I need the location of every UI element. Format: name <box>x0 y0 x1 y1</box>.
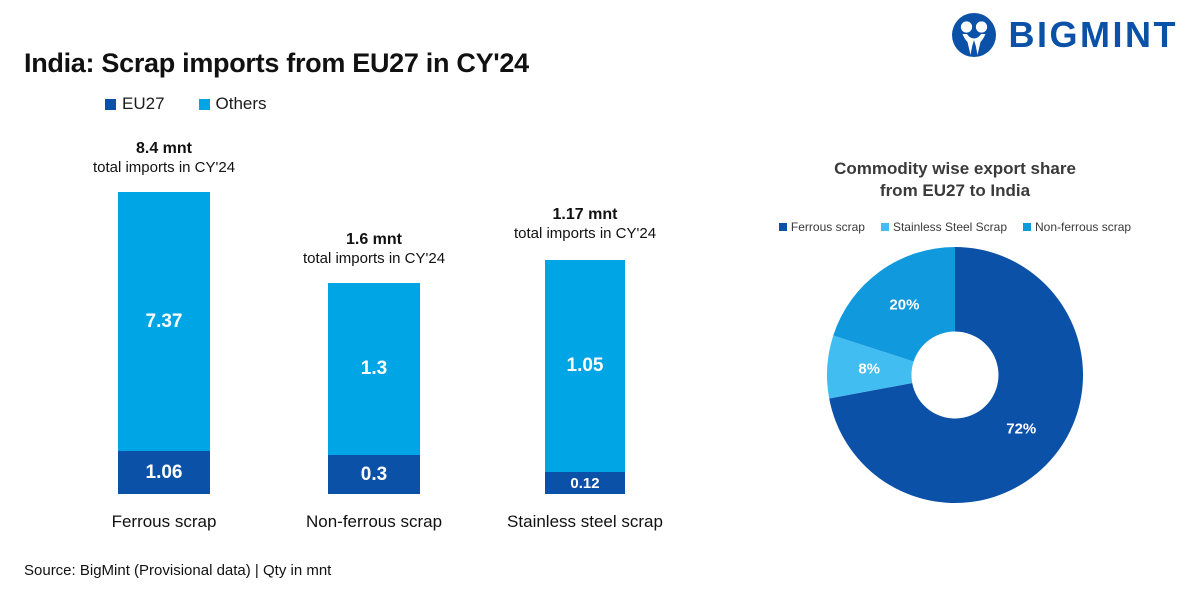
donut-chart-title: Commodity wise export share from EU27 to… <box>720 158 1190 202</box>
donut-legend-item-ferrous-scrap[interactable]: Ferrous scrap <box>779 220 865 234</box>
donut-legend-swatch-ferrous <box>779 223 787 231</box>
bar-segment-others-stainless[interactable]: 1.05 <box>545 260 625 472</box>
source-note: Source: BigMint (Provisional data) | Qty… <box>24 562 331 579</box>
bar-total-value: 8.4 mnt <box>34 140 294 159</box>
bar-total-caption: total imports in CY'24 <box>34 159 294 177</box>
donut-chart-graphic: 72% 8% 20% <box>820 240 1090 510</box>
bar-segment-value-eu27: 0.3 <box>361 464 387 486</box>
bar-stack-ferrous[interactable]: 7.37 1.06 <box>118 192 210 494</box>
donut-legend-label-stainless: Stainless Steel Scrap <box>893 220 1007 234</box>
donut-title-line2: from EU27 to India <box>720 180 1190 202</box>
donut-value-label-non-ferrous: 20% <box>889 296 919 313</box>
donut-legend-swatch-non-ferrous <box>1023 223 1031 231</box>
donut-legend-label-non-ferrous: Non-ferrous scrap <box>1035 220 1131 234</box>
bar-segment-value-others: 1.3 <box>361 358 387 380</box>
bar-segment-eu27-ferrous[interactable]: 1.06 <box>118 451 210 494</box>
bar-segment-eu27-stainless[interactable]: 0.12 <box>545 472 625 494</box>
donut-value-label-stainless: 8% <box>858 361 880 378</box>
donut-legend-swatch-stainless <box>881 223 889 231</box>
brand-logo: BIGMINT <box>951 12 1178 58</box>
bar-segment-value-others: 1.05 <box>567 355 604 377</box>
donut-value-label-ferrous: 72% <box>1006 421 1036 438</box>
bar-segment-eu27-non-ferrous[interactable]: 0.3 <box>328 455 420 494</box>
brand-wordmark: BIGMINT <box>1009 17 1178 53</box>
bar-total-label-ferrous: 8.4 mnt total imports in CY'24 <box>34 140 294 177</box>
donut-title-line1: Commodity wise export share <box>720 158 1190 180</box>
bigmint-logo-icon <box>951 12 997 58</box>
bar-category-label-stainless: Stainless steel scrap <box>455 512 715 532</box>
bar-segment-value-eu27: 0.12 <box>570 475 599 492</box>
bar-total-caption: total imports in CY'24 <box>455 225 715 243</box>
donut-chart-legend: Ferrous scrap Stainless Steel Scrap Non-… <box>720 220 1190 234</box>
bar-segment-value-eu27: 1.06 <box>146 462 183 484</box>
donut-legend-item-non-ferrous-scrap[interactable]: Non-ferrous scrap <box>1023 220 1131 234</box>
stacked-bar-chart: 8.4 mnt total imports in CY'24 7.37 1.06… <box>0 0 720 540</box>
bar-total-label-stainless: 1.17 mnt total imports in CY'24 <box>455 206 715 243</box>
donut-legend-item-stainless-steel-scrap[interactable]: Stainless Steel Scrap <box>881 220 1007 234</box>
bar-total-value: 1.17 mnt <box>455 206 715 225</box>
donut-chart-panel: Commodity wise export share from EU27 to… <box>720 150 1190 550</box>
bar-stack-stainless[interactable]: 1.05 0.12 <box>545 260 625 494</box>
bar-segment-others-non-ferrous[interactable]: 1.3 <box>328 283 420 455</box>
bar-total-caption: total imports in CY'24 <box>244 250 504 268</box>
bar-stack-non-ferrous[interactable]: 1.3 0.3 <box>328 283 420 494</box>
donut-legend-label-ferrous: Ferrous scrap <box>791 220 865 234</box>
bar-segment-others-ferrous[interactable]: 7.37 <box>118 192 210 451</box>
bar-segment-value-others: 7.37 <box>146 311 183 333</box>
